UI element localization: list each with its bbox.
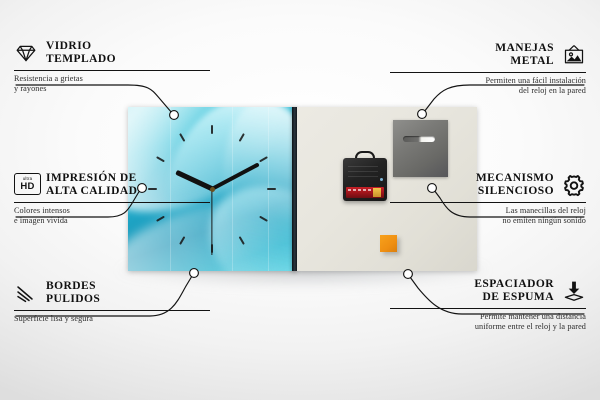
- ultra-hd-badge-icon: ultra HD: [14, 173, 38, 197]
- hd-label: HD: [20, 182, 34, 192]
- hanger-plate: [393, 120, 448, 177]
- callout-header: MANEJAS METAL: [390, 42, 586, 69]
- picture-frame-icon: [562, 43, 586, 67]
- callout-desc-line1: Permite mantener una distancia: [390, 312, 586, 322]
- hand-center-cap: [210, 187, 215, 192]
- callout-desc-line2: del reloj en la pared: [390, 86, 586, 96]
- gear-icon: [562, 173, 586, 197]
- callout-desc-line1: Permiten una fácil instalación: [390, 76, 586, 86]
- callout-impresion-alta-calidad[interactable]: ultra HD IMPRESIÓN DE ALTA CALIDAD Color…: [14, 172, 210, 227]
- hour-marker: [212, 188, 276, 190]
- callout-mecanismo-silencioso[interactable]: MECANISMO SILENCIOSO Las manecillas del …: [390, 172, 586, 227]
- callout-desc-line2: no emiten ningún sonido: [390, 216, 586, 226]
- clock-mechanism: [343, 156, 387, 201]
- arrow-down-pad-icon: [562, 279, 586, 303]
- diamond-icon: [14, 41, 38, 65]
- callout-rule: [390, 202, 586, 203]
- callout-title: MANEJAS METAL: [495, 42, 554, 69]
- battery-label: [348, 189, 372, 191]
- battery-terminal: [373, 188, 381, 197]
- callout-desc-line1: Superficie lisa y segura: [14, 314, 210, 324]
- callout-espaciador-espuma[interactable]: ESPACIADOR DE ESPUMA Permite mantener un…: [390, 278, 586, 333]
- callout-bordes-pulidos[interactable]: BORDES PULIDOS Superficie lisa y segura: [14, 280, 210, 324]
- callout-title: MECANISMO SILENCIOSO: [476, 172, 554, 199]
- callout-rule: [14, 202, 210, 203]
- diagonal-lines-icon: [14, 281, 38, 305]
- callout-rule: [14, 310, 210, 311]
- mechanism-indicator: [380, 178, 383, 181]
- callout-header: ESPACIADOR DE ESPUMA: [390, 278, 586, 305]
- callout-header: ultra HD IMPRESIÓN DE ALTA CALIDAD: [14, 172, 210, 199]
- callout-header: MECANISMO SILENCIOSO: [390, 172, 586, 199]
- infographic-stage: VIDRIO TEMPLADO Resistencia a grietas y …: [0, 0, 600, 400]
- foam-spacer: [380, 235, 397, 252]
- callout-desc-line1: Colores intensos: [14, 206, 210, 216]
- callout-header: BORDES PULIDOS: [14, 280, 210, 307]
- callout-desc-line2: uniforme entre el reloj y la pared: [390, 322, 586, 332]
- callout-title: IMPRESIÓN DE ALTA CALIDAD: [46, 172, 137, 199]
- callout-desc-line1: Resistencia a grietas: [14, 74, 210, 84]
- callout-vidrio-templado[interactable]: VIDRIO TEMPLADO Resistencia a grietas y …: [14, 40, 210, 95]
- mechanism-vents: [348, 166, 378, 180]
- callout-desc-line1: Las manecillas del reloj: [390, 206, 586, 216]
- callout-rule: [390, 72, 586, 73]
- hour-marker: [211, 125, 213, 189]
- callout-desc-line2: y rayones: [14, 84, 210, 94]
- callout-desc-line2: e imagen vívida: [14, 216, 210, 226]
- mechanism-body: [343, 158, 387, 201]
- callout-title: VIDRIO TEMPLADO: [46, 40, 116, 67]
- callout-title: BORDES PULIDOS: [46, 280, 100, 307]
- callout-header: VIDRIO TEMPLADO: [14, 40, 210, 67]
- callout-rule: [14, 70, 210, 71]
- callout-rule: [390, 308, 586, 309]
- callout-manejas-metal[interactable]: MANEJAS METAL Permiten una fácil instala…: [390, 42, 586, 97]
- hanger-keyhole-slot: [403, 136, 435, 142]
- callout-title: ESPACIADOR DE ESPUMA: [474, 278, 554, 305]
- battery: [346, 187, 384, 198]
